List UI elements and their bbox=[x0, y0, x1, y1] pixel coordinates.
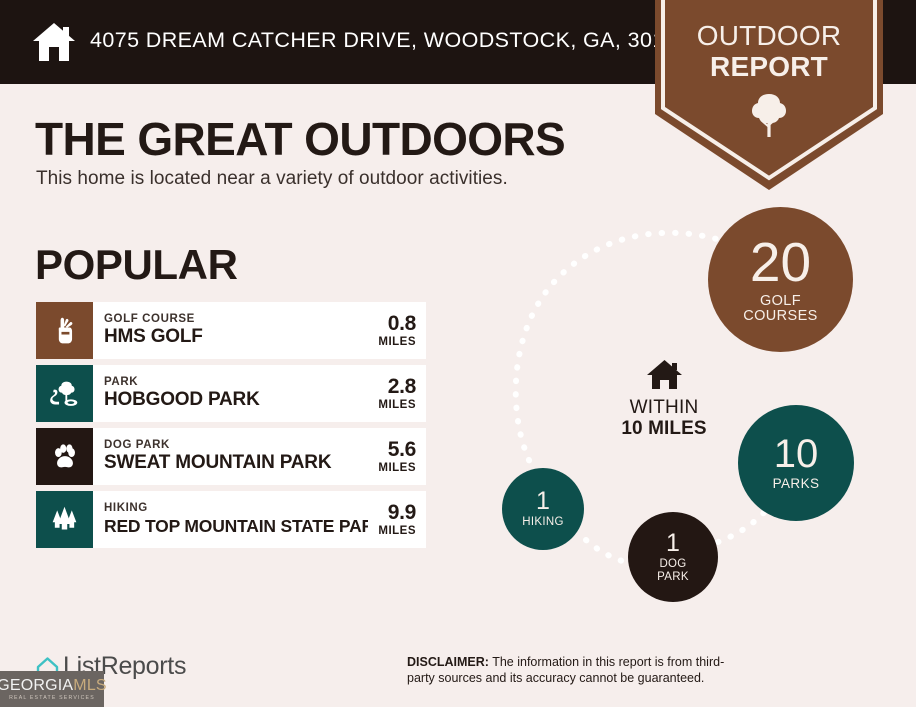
georgiamls-watermark: GEORGIAMLS REAL ESTATE SERVICES bbox=[0, 671, 104, 707]
georgiamls-tagline: REAL ESTATE SERVICES bbox=[9, 695, 95, 701]
page-subtitle: This home is located near a variety of o… bbox=[36, 168, 508, 190]
stat-value: 20 bbox=[750, 235, 811, 290]
stat-value: 1 bbox=[536, 489, 550, 514]
stat-label: GOLF COURSES bbox=[743, 294, 818, 324]
poi-category: HIKING bbox=[104, 502, 368, 515]
tree-icon bbox=[749, 92, 789, 138]
poi-distance-unit: MILES bbox=[378, 524, 416, 538]
center-label-line1: WITHIN bbox=[599, 397, 729, 418]
poi-icon-tile bbox=[36, 428, 93, 485]
center-label-line2: 10 MILES bbox=[599, 418, 729, 440]
poi-icon-tile bbox=[36, 365, 93, 422]
stat-label-line1: DOG bbox=[657, 558, 689, 570]
home-icon bbox=[31, 19, 77, 65]
poi-distance: 9.9 MILES bbox=[368, 491, 426, 548]
list-item[interactable]: DOG PARK SWEAT MOUNTAIN PARK 5.6 MILES bbox=[36, 428, 426, 485]
poi-text: PARK HOBGOOD PARK bbox=[93, 365, 368, 422]
poi-distance-unit: MILES bbox=[378, 461, 416, 475]
page-title: THE GREAT OUTDOORS bbox=[35, 112, 565, 166]
stat-circle-hiking[interactable]: 1 HIKING bbox=[502, 468, 584, 550]
stat-label: DOG PARK bbox=[657, 558, 689, 582]
poi-distance-unit: MILES bbox=[378, 335, 416, 349]
stat-circle-parks[interactable]: 10 PARKS bbox=[738, 405, 854, 521]
poi-icon-tile bbox=[36, 491, 93, 548]
poi-distance-unit: MILES bbox=[378, 398, 416, 412]
poi-name: SWEAT MOUNTAIN PARK bbox=[104, 452, 368, 474]
stat-label-line2: COURSES bbox=[743, 309, 818, 324]
poi-name: HOBGOOD PARK bbox=[104, 389, 368, 411]
poi-text: HIKING RED TOP MOUNTAIN STATE PARK bbox=[93, 491, 368, 548]
pine-trees-icon bbox=[49, 504, 80, 535]
poi-category: GOLF COURSE bbox=[104, 313, 368, 326]
poi-distance: 2.8 MILES bbox=[368, 365, 426, 422]
outdoor-report-page: 4075 DREAM CATCHER DRIVE, WOODSTOCK, GA,… bbox=[0, 0, 916, 707]
golf-bag-icon bbox=[50, 316, 80, 346]
within-10-miles-diagram: WITHIN 10 MILES 20 GOLF COURSES 10 PARKS… bbox=[460, 190, 916, 620]
poi-text: GOLF COURSE HMS GOLF bbox=[93, 302, 368, 359]
poi-category: DOG PARK bbox=[104, 439, 368, 452]
poi-distance: 0.8 MILES bbox=[368, 302, 426, 359]
poi-distance-value: 2.8 bbox=[388, 376, 416, 398]
disclaimer: DISCLAIMER: The information in this repo… bbox=[407, 655, 727, 686]
paw-print-icon bbox=[50, 442, 80, 472]
stat-circle-golf-courses[interactable]: 20 GOLF COURSES bbox=[708, 207, 853, 352]
poi-text: DOG PARK SWEAT MOUNTAIN PARK bbox=[93, 428, 368, 485]
georgiamls-wordmark: GEORGIAMLS bbox=[0, 677, 107, 694]
list-item[interactable]: HIKING RED TOP MOUNTAIN STATE PARK 9.9 M… bbox=[36, 491, 426, 548]
poi-category: PARK bbox=[104, 376, 368, 389]
property-address: 4075 DREAM CATCHER DRIVE, WOODSTOCK, GA,… bbox=[90, 28, 689, 53]
stat-label-line1: GOLF bbox=[743, 294, 818, 309]
popular-heading: POPULAR bbox=[35, 241, 238, 289]
poi-name: HMS GOLF bbox=[104, 326, 368, 348]
stat-label: PARKS bbox=[773, 477, 820, 491]
georgiamls-mls: MLS bbox=[73, 677, 107, 694]
center-marker: WITHIN 10 MILES bbox=[599, 358, 729, 440]
badge-title: OUTDOOR REPORT bbox=[655, 20, 883, 82]
stat-value: 10 bbox=[774, 434, 819, 474]
outdoor-report-badge: OUTDOOR REPORT bbox=[655, 0, 883, 190]
disclaimer-label: DISCLAIMER: bbox=[407, 655, 489, 669]
georgiamls-georgia: GEORGIA bbox=[0, 677, 73, 694]
list-item[interactable]: GOLF COURSE HMS GOLF 0.8 MILES bbox=[36, 302, 426, 359]
poi-name: RED TOP MOUNTAIN STATE PARK bbox=[104, 515, 368, 537]
popular-list: GOLF COURSE HMS GOLF 0.8 MILES PARK bbox=[36, 302, 426, 554]
stat-label-line2: PARK bbox=[657, 571, 689, 583]
badge-title-line2: REPORT bbox=[655, 51, 883, 82]
stat-value: 1 bbox=[666, 531, 680, 556]
poi-distance: 5.6 MILES bbox=[368, 428, 426, 485]
home-icon bbox=[646, 358, 683, 391]
stat-label: HIKING bbox=[522, 516, 563, 528]
poi-icon-tile bbox=[36, 302, 93, 359]
poi-distance-value: 5.6 bbox=[388, 439, 416, 461]
poi-distance-value: 9.9 bbox=[388, 502, 416, 524]
park-tree-path-icon bbox=[49, 378, 80, 409]
poi-distance-value: 0.8 bbox=[388, 313, 416, 335]
list-item[interactable]: PARK HOBGOOD PARK 2.8 MILES bbox=[36, 365, 426, 422]
stat-circle-dog-park[interactable]: 1 DOG PARK bbox=[628, 512, 718, 602]
badge-title-line1: OUTDOOR bbox=[655, 20, 883, 51]
